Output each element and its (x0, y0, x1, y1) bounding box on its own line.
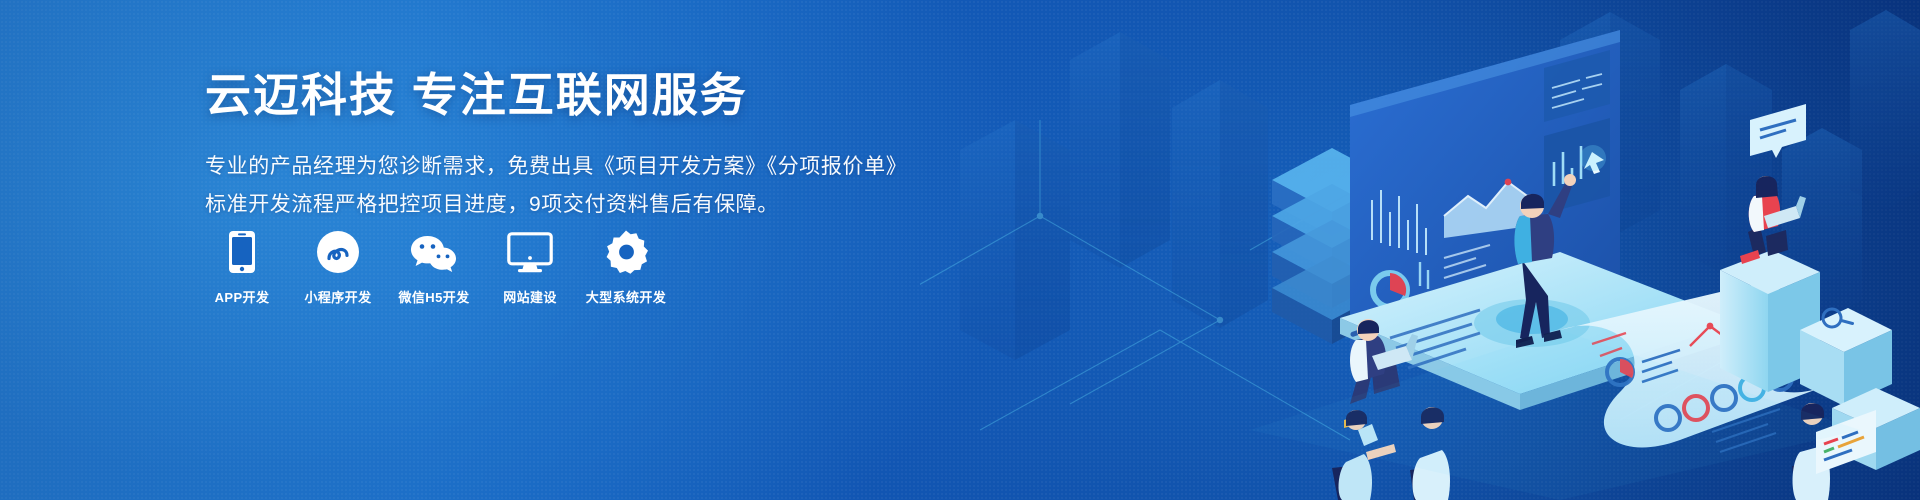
hero-subtitle: 专业的产品经理为您诊断需求，免费出具《项目开发方案》《分项报价单》 标准开发流程… (205, 148, 965, 224)
monitor-icon (507, 228, 553, 274)
subtitle-line-1: 专业的产品经理为您诊断需求，免费出具《项目开发方案》《分项报价单》 (205, 148, 965, 186)
service-item-wechat-h5[interactable]: 微信H5开发 (397, 228, 471, 306)
page-title: 云迈科技 专注互联网服务 (205, 68, 965, 122)
service-item-app[interactable]: APP开发 (205, 228, 279, 306)
hero-banner: 云迈科技 专注互联网服务 专业的产品经理为您诊断需求，免费出具《项目开发方案》《… (0, 0, 1920, 500)
isometric-tech-illustration (920, 0, 1920, 500)
subtitle-line-2: 标准开发流程严格把控项目进度，9项交付资料售后有保障。 (205, 186, 965, 224)
service-label: APP开发 (215, 287, 270, 306)
service-item-website[interactable]: 网站建设 (493, 228, 567, 306)
mobile-phone-icon (228, 228, 256, 274)
service-item-large-system[interactable]: 大型系统开发 (589, 228, 663, 306)
service-label: 大型系统开发 (586, 287, 666, 306)
service-label: 微信H5开发 (398, 287, 469, 306)
service-label: 网站建设 (503, 287, 557, 306)
service-list: APP开发 小程序开发 微信 (205, 228, 685, 306)
service-item-mini-program[interactable]: 小程序开发 (301, 228, 375, 306)
mini-program-icon (316, 228, 360, 274)
service-label: 小程序开发 (304, 287, 371, 306)
gear-icon (604, 228, 648, 274)
hero-copy: 云迈科技 专注互联网服务 专业的产品经理为您诊断需求，免费出具《项目开发方案》《… (205, 68, 965, 225)
wechat-icon (409, 228, 459, 274)
